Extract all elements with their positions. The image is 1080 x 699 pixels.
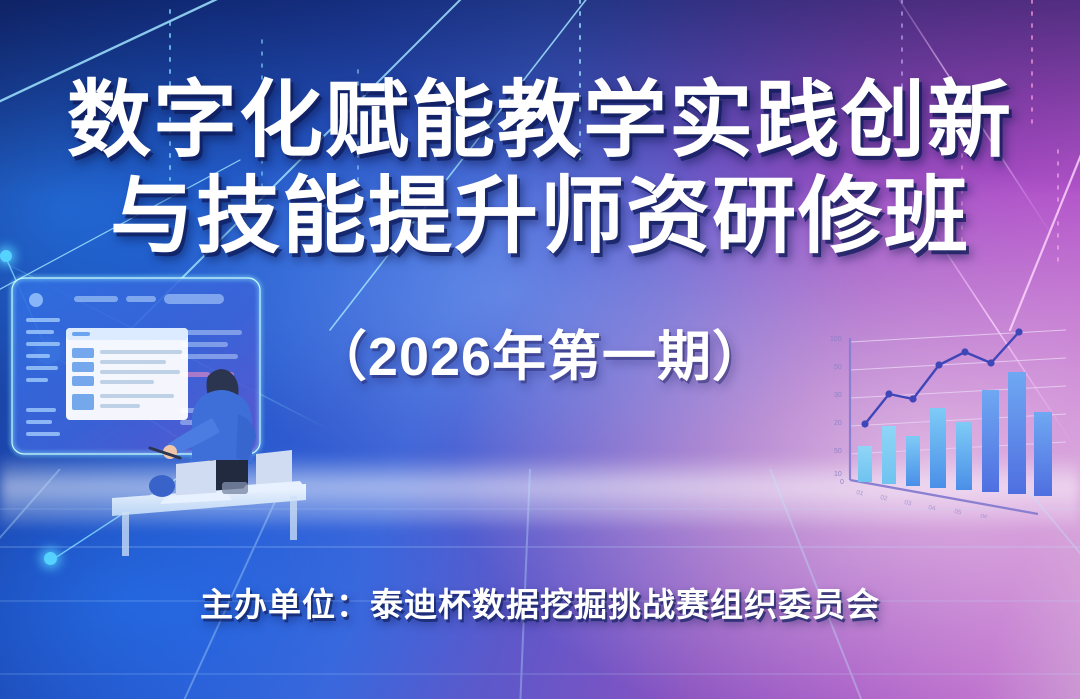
- title-line-1: 数字化赋能教学实践创新: [0, 78, 1080, 164]
- svg-text:03: 03: [904, 499, 913, 507]
- svg-text:01: 01: [856, 489, 865, 497]
- svg-text:50: 50: [834, 448, 842, 455]
- tablet-prop-icon: [222, 482, 248, 494]
- title-block: 数字化赋能教学实践创新 与技能提升师资研修班: [0, 78, 1080, 259]
- svg-text:20: 20: [834, 420, 842, 427]
- subtitle-edition: （2026年第一期）: [0, 312, 1080, 391]
- title-line-2: 与技能提升师资研修班: [0, 174, 1080, 260]
- svg-text:0: 0: [840, 479, 844, 486]
- svg-text:05: 05: [954, 508, 963, 516]
- svg-text:06: 06: [980, 513, 989, 518]
- svg-text:30: 30: [834, 392, 842, 399]
- svg-text:04: 04: [928, 504, 937, 512]
- organizer-line: 主办单位：泰迪杯数据挖掘挑战赛组织委员会: [0, 578, 1080, 626]
- svg-text:10: 10: [834, 471, 842, 478]
- banner-poster: 100 50 30 20 50 10 0: [0, 0, 1080, 699]
- globe-prop-icon: [149, 475, 175, 497]
- svg-text:02: 02: [880, 494, 889, 502]
